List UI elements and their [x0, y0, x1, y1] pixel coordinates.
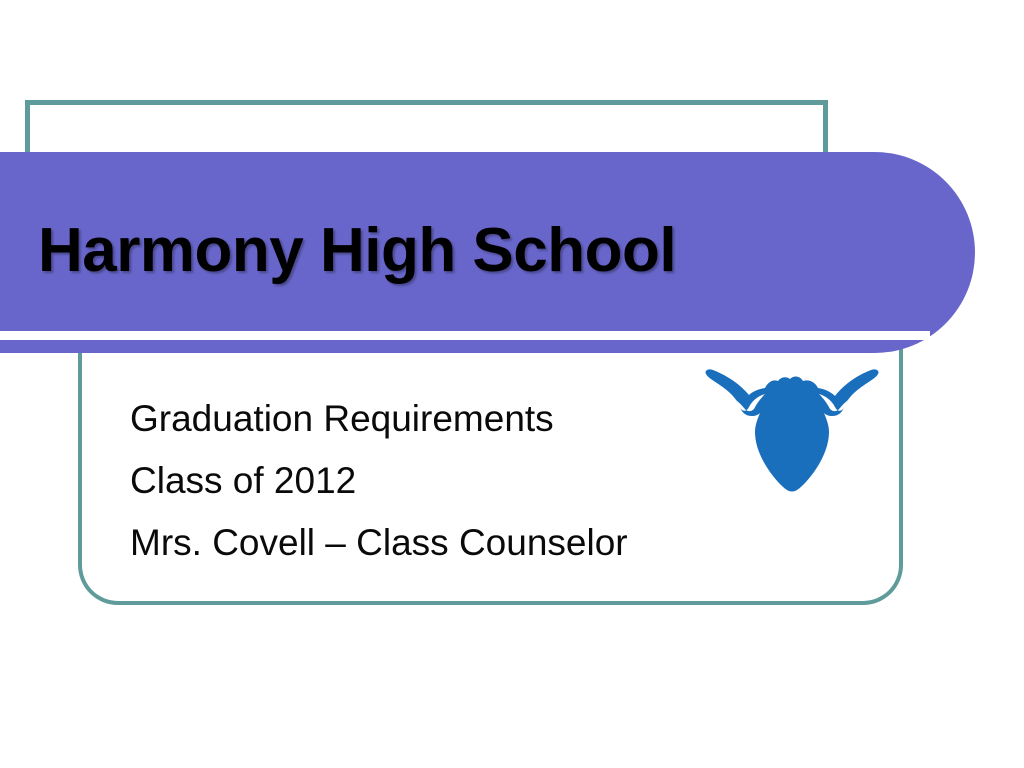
banner-white-stripe: [0, 331, 930, 340]
presentation-slide: Harmony High School Graduation Requireme…: [0, 0, 1024, 768]
body-line-counselor: Mrs. Covell – Class Counselor: [130, 512, 690, 574]
body-line-subtitle: Graduation Requirements: [130, 388, 690, 450]
body-line-class-year: Class of 2012: [130, 450, 690, 512]
longhorn-bull-head-icon: [702, 362, 882, 492]
slide-title: Harmony High School: [38, 206, 918, 296]
slide-body: Graduation Requirements Class of 2012 Mr…: [130, 388, 690, 574]
